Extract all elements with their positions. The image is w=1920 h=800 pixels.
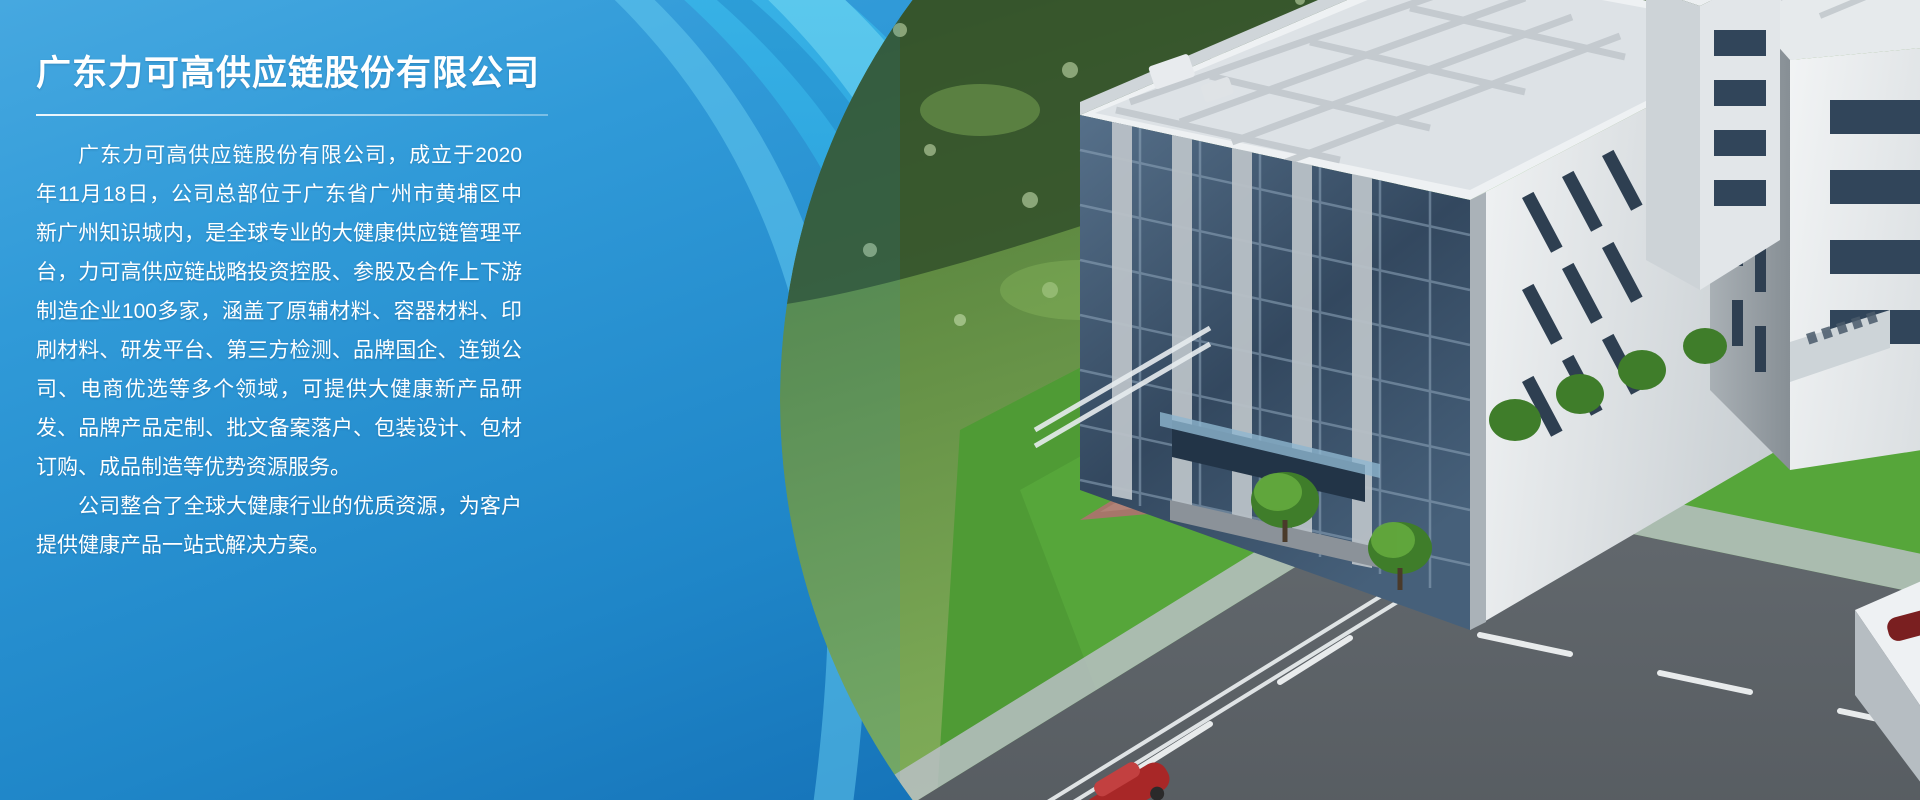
company-park-photo (780, 0, 1920, 800)
intro-text-column: 广东力可高供应链股份有限公司 广东力可高供应链股份有限公司，成立于2020年11… (0, 0, 560, 800)
intro-body: 广东力可高供应链股份有限公司，成立于2020年11月18日，公司总部位于广东省广… (36, 136, 522, 565)
intro-paragraph-2: 公司整合了全球大健康行业的优质资源，为客户提供健康产品一站式解决方案。 (36, 487, 522, 565)
banner-stage: 广东力可高供应链股份有限公司 广东力可高供应链股份有限公司，成立于2020年11… (0, 0, 1920, 800)
page-title: 广东力可高供应链股份有限公司 (36, 52, 530, 96)
intro-paragraph-1: 广东力可高供应链股份有限公司，成立于2020年11月18日，公司总部位于广东省广… (36, 136, 522, 487)
park-illustration (780, 0, 1920, 800)
title-divider (36, 114, 548, 116)
connector-tower (1646, 0, 1780, 290)
